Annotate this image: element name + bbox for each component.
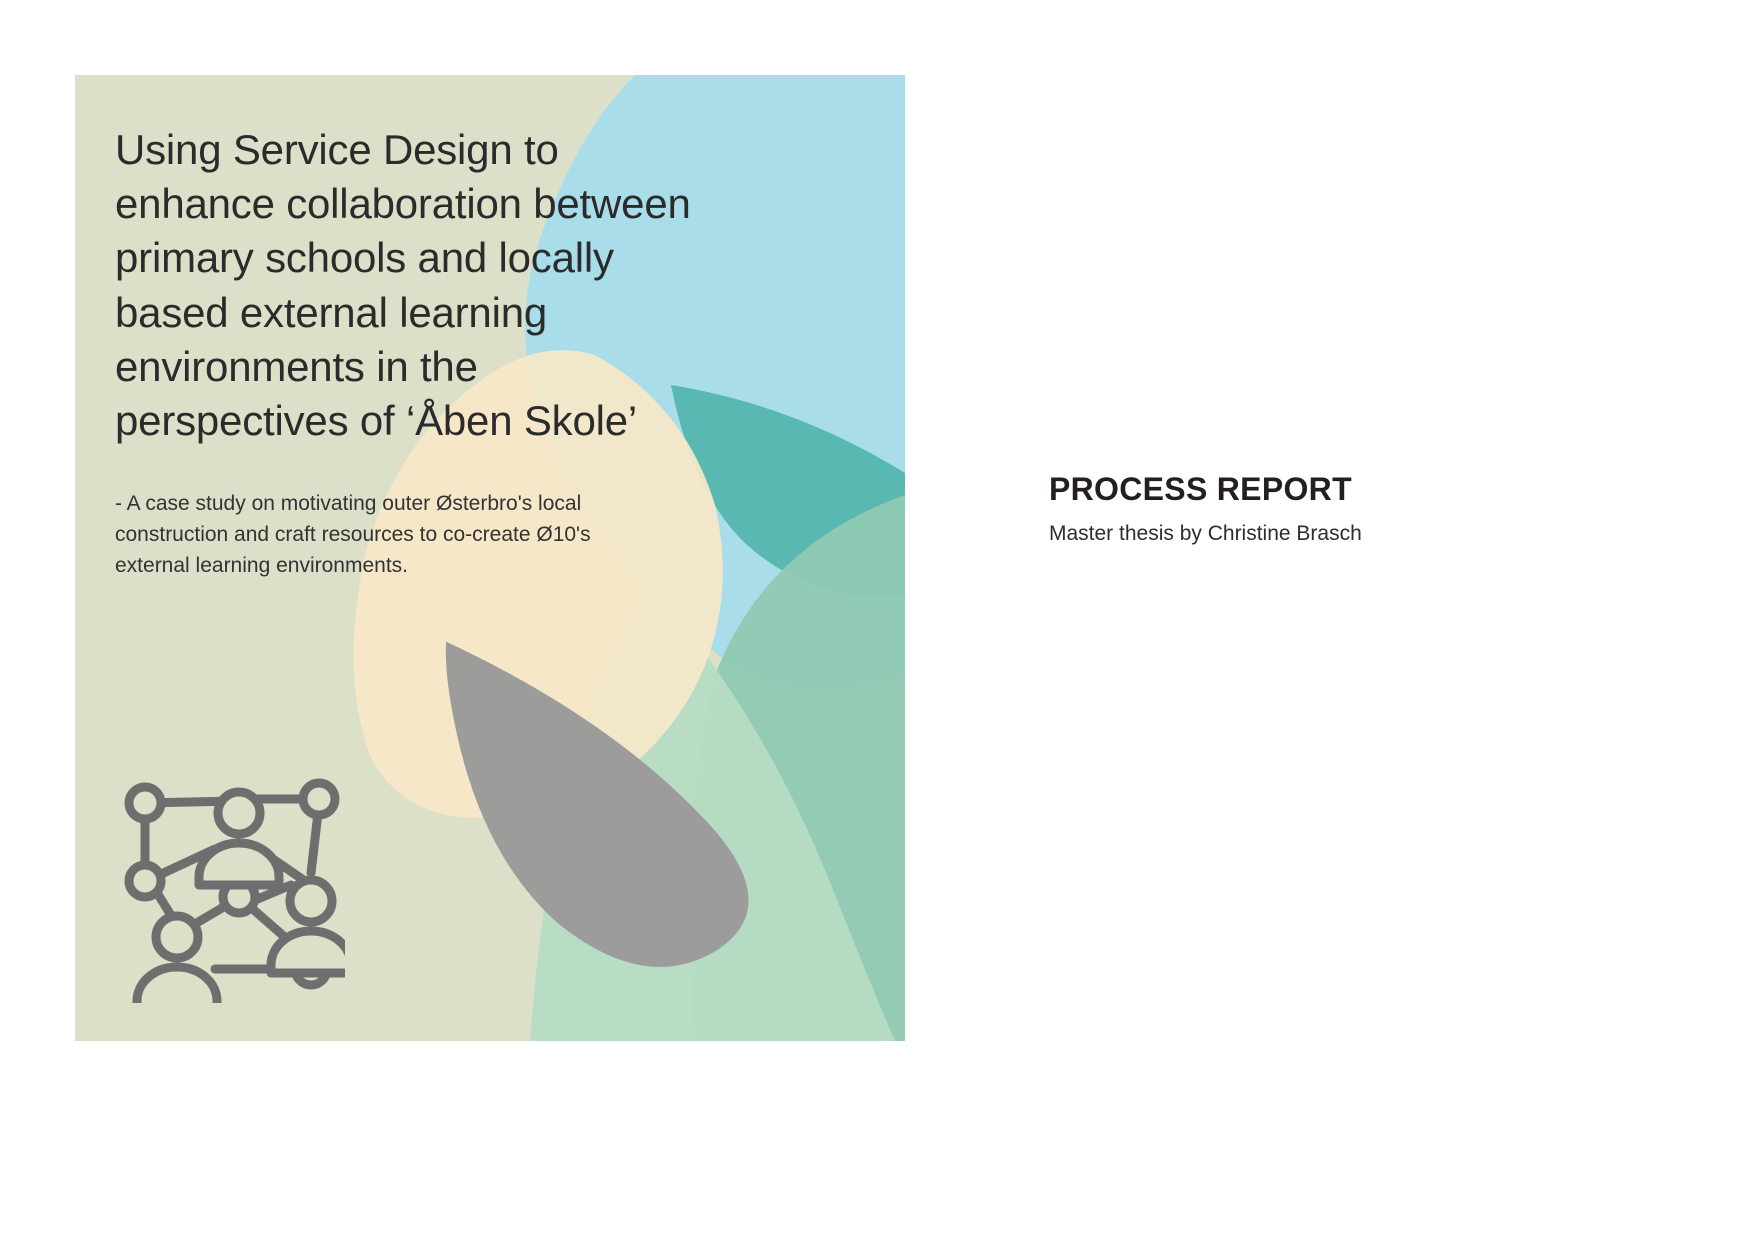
person-head-right bbox=[290, 880, 332, 922]
cover-text-block: Using Service Design to enhance collabor… bbox=[115, 123, 815, 581]
document-page: Using Service Design to enhance collabor… bbox=[0, 0, 1754, 1241]
person-body-bottom-left bbox=[137, 967, 217, 1003]
person-body-top bbox=[199, 843, 279, 885]
node-circle-top-right bbox=[303, 783, 335, 815]
person-head-top bbox=[218, 792, 260, 834]
report-kicker: PROCESS REPORT bbox=[1049, 470, 1609, 508]
node-circle-mid-left bbox=[129, 865, 161, 897]
edge-4 bbox=[311, 813, 318, 873]
report-author: Master thesis by Christine Brasch bbox=[1049, 520, 1609, 547]
report-meta-block: PROCESS REPORT Master thesis by Christin… bbox=[1049, 470, 1609, 548]
cover-title: Using Service Design to enhance collabor… bbox=[115, 123, 815, 448]
person-head-bottom-left bbox=[156, 916, 198, 958]
person-body-right bbox=[271, 931, 345, 973]
cover-subtitle: - A case study on motivating outer Øster… bbox=[115, 488, 815, 581]
node-circle-top-left bbox=[129, 787, 161, 819]
cover-artwork-panel: Using Service Design to enhance collabor… bbox=[75, 75, 905, 1041]
network-people-icon bbox=[115, 773, 345, 1003]
